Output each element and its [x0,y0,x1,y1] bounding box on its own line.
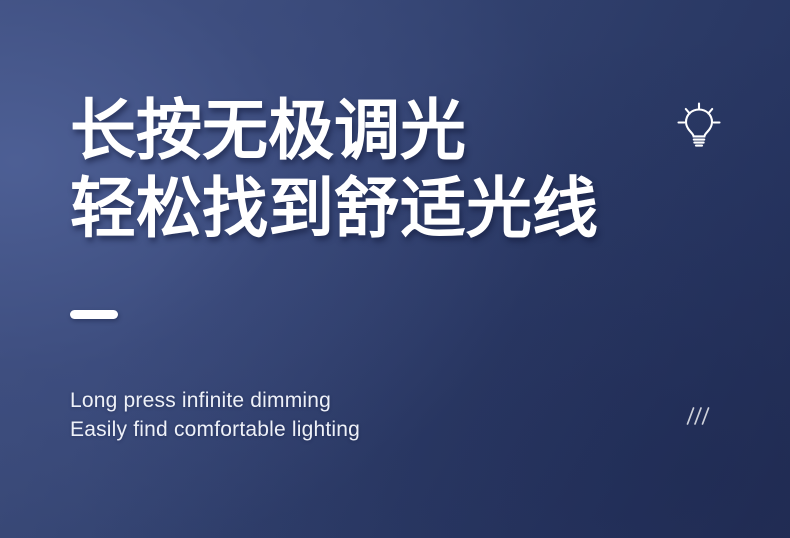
promo-banner: 长按无极调光 轻松找到舒适光线 Long press infinite dimm… [0,0,790,538]
triple-slash-icon [682,404,714,428]
subtitle-line-2: Easily find comfortable lighting [70,415,360,444]
headline-line-2: 轻松找到舒适光线 [70,170,598,248]
headline-divider [70,310,118,319]
banner-content: 长按无极调光 轻松找到舒适光线 Long press infinite dimm… [70,0,710,538]
headline-line-1: 长按无极调光 [70,92,598,170]
subtitle: Long press infinite dimming Easily find … [70,386,360,444]
lightbulb-icon [674,101,724,151]
subtitle-line-1: Long press infinite dimming [70,386,360,415]
headline: 长按无极调光 轻松找到舒适光线 [70,92,598,248]
